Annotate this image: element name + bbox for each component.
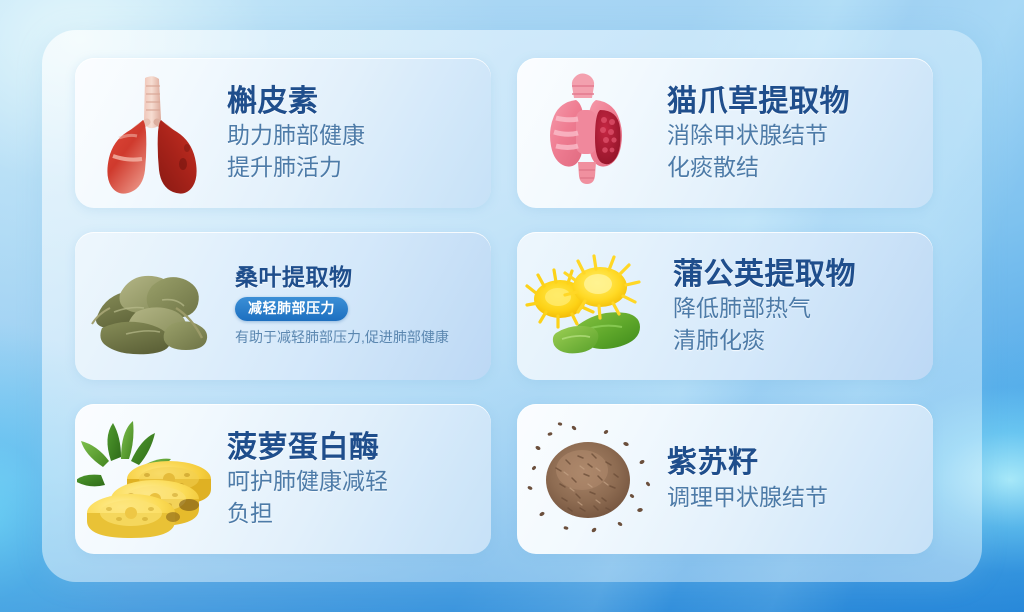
card-subtitle-line-1: 调理甲状腺结节 — [667, 483, 919, 512]
perilla-seeds-icon — [522, 418, 662, 540]
card-description: 有助于减轻肺部压力,促进肺部健康 — [235, 328, 477, 347]
card-text: 菠萝蛋白酶 呵护肺健康减轻 负担 — [227, 431, 491, 528]
card-title: 紫苏籽 — [667, 446, 919, 480]
card-subtitle-line-1: 降低肺部热气 — [673, 294, 919, 323]
dried-mulberry-leaves-icon — [80, 250, 230, 362]
ingredient-card-cats-claw-extract[interactable]: 猫爪草提取物 消除甲状腺结节 化痰散结 — [517, 58, 933, 208]
card-title: 猫爪草提取物 — [667, 85, 919, 119]
card-text: 猫爪草提取物 消除甲状腺结节 化痰散结 — [667, 85, 933, 182]
card-media — [517, 242, 673, 370]
card-text: 桑叶提取物 减轻肺部压力 有助于减轻肺部压力,促进肺部健康 — [235, 265, 491, 346]
card-badge: 减轻肺部压力 — [235, 297, 348, 321]
card-media — [517, 415, 667, 543]
card-title: 菠萝蛋白酶 — [227, 431, 477, 465]
card-text: 槲皮素 助力肺部健康 提升肺活力 — [227, 85, 491, 182]
ingredient-card-mulberry-leaf-extract[interactable]: 桑叶提取物 减轻肺部压力 有助于减轻肺部压力,促进肺部健康 — [75, 232, 491, 380]
slide-stage: 槲皮素 助力肺部健康 提升肺活力 — [0, 0, 1024, 612]
ingredient-card-quercetin[interactable]: 槲皮素 助力肺部健康 提升肺活力 — [75, 58, 491, 208]
ingredient-card-grid: 槲皮素 助力肺部健康 提升肺活力 — [75, 58, 951, 554]
pineapple-slices-icon — [77, 417, 225, 541]
card-title: 蒲公英提取物 — [673, 258, 919, 292]
card-subtitle-line-2: 清肺化痰 — [673, 326, 919, 355]
ingredient-card-bromelain[interactable]: 菠萝蛋白酶 呵护肺健康减轻 负担 — [75, 404, 491, 554]
lungs-icon — [87, 72, 215, 194]
ingredient-card-dandelion-extract[interactable]: 蒲公英提取物 降低肺部热气 清肺化痰 — [517, 232, 933, 380]
card-subtitle-line-1: 助力肺部健康 — [227, 121, 477, 150]
card-title: 桑叶提取物 — [235, 265, 477, 291]
card-media — [75, 242, 235, 370]
thyroid-gland-icon — [536, 70, 648, 196]
card-title: 槲皮素 — [227, 85, 477, 119]
card-media — [517, 69, 667, 197]
card-text: 蒲公英提取物 降低肺部热气 清肺化痰 — [673, 258, 933, 355]
card-text: 紫苏籽 调理甲状腺结节 — [667, 446, 933, 511]
ingredient-card-perilla-seed[interactable]: 紫苏籽 调理甲状腺结节 — [517, 404, 933, 554]
card-subtitle-line-2: 负担 — [227, 499, 477, 528]
card-subtitle-line-2: 化痰散结 — [667, 153, 919, 182]
card-subtitle-line-1: 呵护肺健康减轻 — [227, 467, 477, 496]
card-media — [75, 415, 227, 543]
dandelion-flower-icon — [522, 247, 668, 365]
card-media — [75, 69, 227, 197]
card-subtitle-line-2: 提升肺活力 — [227, 153, 477, 182]
card-subtitle-line-1: 消除甲状腺结节 — [667, 121, 919, 150]
